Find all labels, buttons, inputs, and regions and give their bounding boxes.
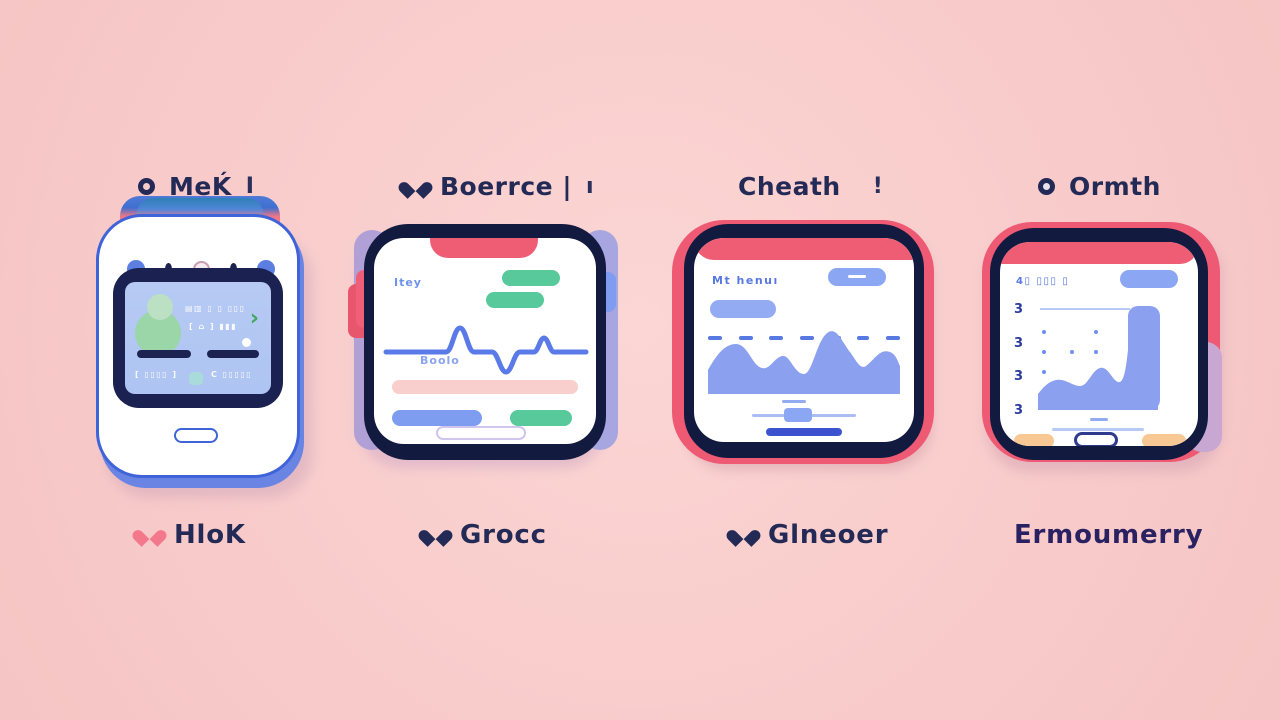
top-label-3-text: Cheath bbox=[738, 172, 841, 201]
watch-4-pill-right[interactable] bbox=[1120, 270, 1178, 288]
status-blob-small bbox=[147, 294, 173, 320]
watch-3-label-top-left: Mt henuı bbox=[712, 274, 779, 287]
watch-2-label-top-left: Itey bbox=[394, 276, 422, 289]
watch-3-top-strip bbox=[694, 238, 914, 260]
watch-4-footer-tick bbox=[1090, 418, 1108, 421]
top-label-2-text: Boerrce | bbox=[440, 172, 572, 201]
watch-1-text-line-3: [ ▯▯▯▯ ] bbox=[135, 370, 178, 379]
watch-1-text-line-4: C ▯▯▯▯▯ bbox=[211, 370, 252, 379]
watch-1-text-line-1: ▤▥ ▯ ▯ ▯▯▯ bbox=[185, 304, 245, 313]
top-label-3-suffix: ! bbox=[873, 174, 884, 199]
watch-2-screen[interactable]: Itey Boolo bbox=[374, 238, 596, 444]
watch-1-screen[interactable]: ▤▥ ▯ ▯ ▯▯▯ [ ⌂ ] ▮▮▮ › [ ▯▯▯▯ ] C ▯▯▯▯▯ bbox=[125, 282, 271, 394]
watch-1-bezel: ▤▥ ▯ ▯ ▯▯▯ [ ⌂ ] ▮▮▮ › [ ▯▯▯▯ ] C ▯▯▯▯▯ bbox=[113, 268, 283, 408]
bottom-label-2: Grocc bbox=[426, 520, 547, 550]
watch-4-footer-line bbox=[1052, 428, 1144, 431]
watch-2-pill-green-3[interactable] bbox=[510, 410, 572, 426]
top-label-4-text: Ormth bbox=[1069, 172, 1161, 201]
chevron-right-icon[interactable]: › bbox=[250, 308, 259, 330]
watch-4-top-strip bbox=[1000, 242, 1198, 264]
heart-icon bbox=[140, 526, 160, 544]
watch-3-slider-tick bbox=[782, 400, 806, 403]
watch-3-pill-right[interactable] bbox=[828, 268, 886, 286]
watch-4-home-button[interactable] bbox=[1074, 432, 1118, 446]
watch-device-2: Itey Boolo bbox=[346, 214, 626, 474]
watch-device-4: 4▯ ▯▯▯ ▯ 3 3 3 3 bbox=[972, 212, 1232, 476]
watch-3-slider-handle[interactable] bbox=[784, 408, 812, 422]
bottom-label-3-text: Glneoer bbox=[768, 520, 888, 550]
watch-1-indicator-dot bbox=[242, 338, 251, 347]
heart-icon bbox=[734, 526, 754, 544]
watch-2-pill-blue[interactable] bbox=[392, 410, 482, 426]
watch-3-area-chart bbox=[694, 304, 914, 394]
watch-1-text-line-2: [ ⌂ ] ▮▮▮ bbox=[189, 322, 237, 331]
watch-3-pill-right-dash bbox=[848, 275, 866, 278]
watch-2-pill-green-2[interactable] bbox=[486, 292, 544, 308]
bottom-label-4: Ermoumerry bbox=[1014, 520, 1203, 550]
heart-icon bbox=[406, 178, 426, 196]
watch-3-bezel: Mt henuı bbox=[684, 224, 924, 458]
illustration-canvas: MeḰ I Boerrce | ı Cheath ! Ormth bbox=[0, 0, 1280, 720]
bottom-label-1-text: HloK bbox=[174, 520, 246, 550]
watch-3-home-bar[interactable] bbox=[766, 428, 842, 436]
watch-device-1: ▤▥ ▯ ▯ ▯▯▯ [ ⌂ ] ▮▮▮ › [ ▯▯▯▯ ] C ▯▯▯▯▯ bbox=[96, 196, 308, 496]
bottom-label-2-text: Grocc bbox=[460, 520, 547, 550]
watch-2-home-bar[interactable] bbox=[436, 426, 526, 440]
top-label-4: Ormth bbox=[1038, 172, 1161, 201]
circle-ring-icon bbox=[138, 178, 155, 195]
watch-1-chip bbox=[189, 372, 203, 385]
bottom-label-1: HloK bbox=[140, 520, 246, 550]
watch-2-ecg-chart bbox=[374, 320, 596, 382]
watch-4-bezel: 4▯ ▯▯▯ ▯ 3 3 3 3 bbox=[990, 228, 1208, 460]
watch-3-screen[interactable]: Mt henuı bbox=[694, 238, 914, 442]
watch-1-home-button[interactable] bbox=[174, 428, 218, 443]
watch-1-bar-right bbox=[207, 350, 259, 358]
watch-4-growth-chart bbox=[1000, 298, 1198, 418]
top-label-3: Cheath ! bbox=[738, 172, 883, 201]
top-label-2: Boerrce | ı bbox=[406, 172, 594, 201]
watch-2-label-mid: Boolo bbox=[420, 354, 460, 367]
watch-4-screen[interactable]: 4▯ ▯▯▯ ▯ 3 3 3 3 bbox=[1000, 242, 1198, 446]
watch-4-label-top-left: 4▯ ▯▯▯ ▯ bbox=[1016, 276, 1069, 287]
watch-device-3: Mt henuı bbox=[668, 212, 948, 474]
heart-icon bbox=[426, 526, 446, 544]
bottom-label-4-text: Ermoumerry bbox=[1014, 520, 1203, 550]
watch-4-footer-pill-left[interactable] bbox=[1014, 434, 1054, 446]
watch-2-pill-pink[interactable] bbox=[392, 380, 578, 394]
watch-1-bar-left bbox=[137, 350, 191, 358]
top-label-2-suffix: ı bbox=[586, 174, 594, 199]
watch-2-pill-green-1[interactable] bbox=[502, 270, 560, 286]
watch-2-bezel: Itey Boolo bbox=[364, 224, 606, 460]
watch-4-footer-pill-right[interactable] bbox=[1142, 434, 1186, 446]
watch-2-notch-strip bbox=[430, 238, 538, 258]
bottom-label-3: Glneoer bbox=[734, 520, 888, 550]
circle-dot-icon bbox=[1038, 178, 1055, 195]
